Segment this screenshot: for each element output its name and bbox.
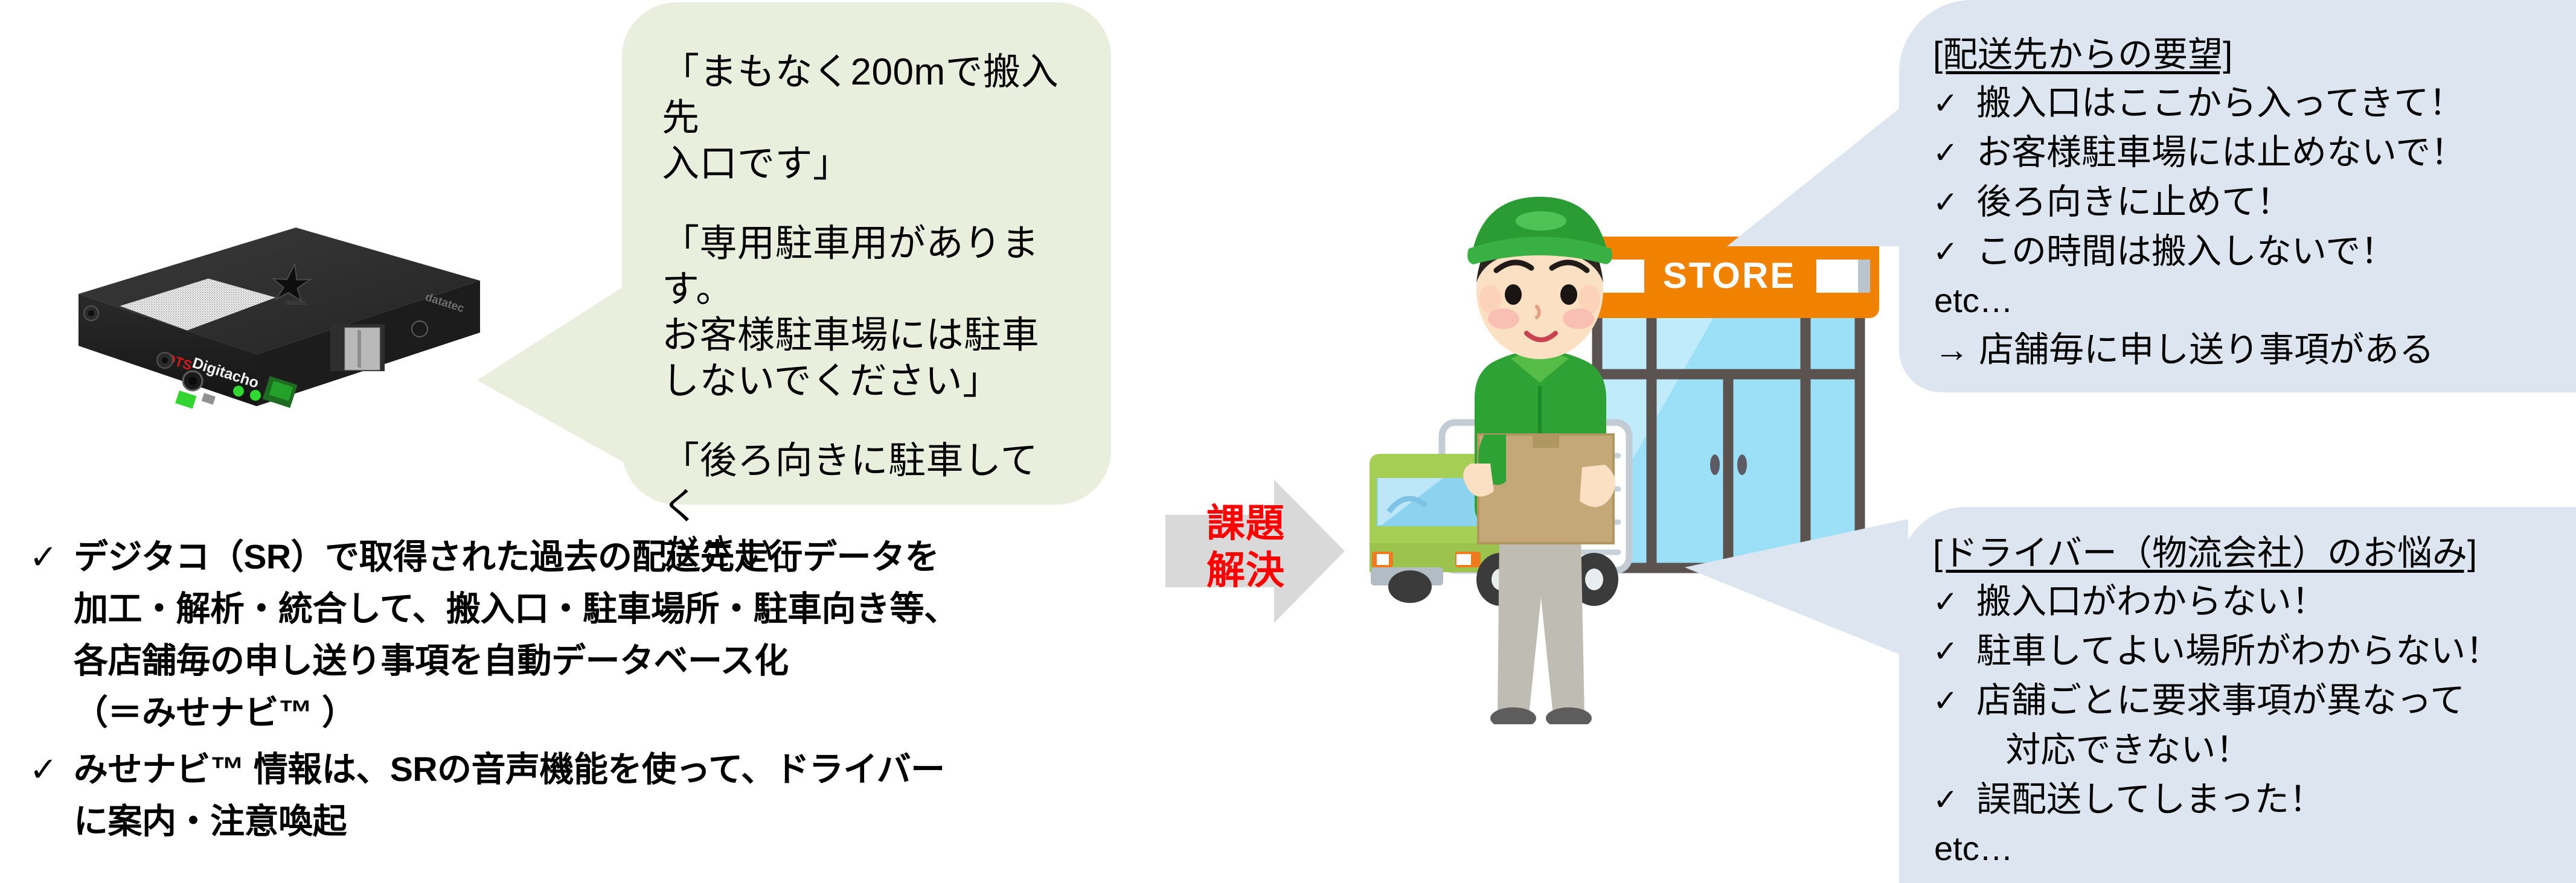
device-logo-wordmark: datatec — [286, 299, 308, 307]
voice-guidance-bubble: 「まもなく200mで搬入先 入口です」 「専用駐車用があります。 お客様駐車場に… — [622, 2, 1111, 505]
check-icon: ✓ — [1933, 128, 1976, 177]
check-icon: ✓ — [1933, 577, 1976, 626]
worries-etc: etc… — [1933, 824, 2552, 873]
driver-worries-box: [ドライバー（物流会社）のお悩み] ✓ 搬入口がわからない！ ✓ 駐車してよい場… — [1899, 507, 2576, 883]
worries-heading: [ドライバー（物流会社）のお悩み] — [1933, 530, 2552, 577]
arrow-label-line2: 解決 — [1182, 547, 1309, 594]
solution-bullet-1: デジタコ（SR）で取得された過去の配送先走行データを 加工・解析・統合して、搬入… — [74, 531, 958, 739]
list-item: ✓ デジタコ（SR）で取得された過去の配送先走行データを 加工・解析・統合して、… — [13, 531, 1161, 739]
worry-item-1: 搬入口がわからない！ — [1976, 577, 2327, 626]
check-icon: ✓ — [13, 531, 74, 583]
list-item: ✓ みせナビ™ 情報は、SRの音声機能を使って、ドライバー に案内・注意喚起 — [13, 744, 1161, 847]
list-item: ✓ 誤配送してしまった！ — [1933, 775, 2552, 824]
request-item-3: 後ろ向きに止めて！ — [1976, 177, 2292, 227]
list-item: ✓ この時間は搬入しないで！ — [1933, 227, 2552, 276]
problem-solving-label: 課題 解決 — [1182, 500, 1309, 594]
check-icon: ✓ — [1933, 775, 1976, 824]
check-icon: ✓ — [1933, 676, 1976, 725]
check-icon: ✓ — [1933, 227, 1976, 276]
voice-gap-2 — [662, 404, 1074, 438]
list-item: ✓ 店舗ごとに要求事項が異なって 対応できない！ — [1933, 676, 2552, 775]
check-icon: ✓ — [1933, 78, 1976, 128]
svg-text:STORE: STORE — [1663, 255, 1796, 296]
request-item-4: この時間は搬入しないで！ — [1976, 227, 2395, 276]
worries-bubble-tail — [1685, 507, 1908, 664]
worry-item-2: 駐車してよい場所がわからない！ — [1976, 626, 2501, 676]
list-item: ✓ お客様駐車場には止めないで！ — [1933, 128, 2552, 177]
requests-etc: etc… — [1933, 276, 2552, 325]
voice-line-2: 「専用駐車用があります。 お客様駐車場には駐車 しないでください」 — [662, 221, 1074, 404]
arrow-label-line1: 課題 — [1182, 500, 1309, 547]
list-item: ✓ 後ろ向きに止めて！ — [1933, 177, 2552, 227]
voice-bubble-tail — [477, 284, 628, 465]
solution-bullet-2: みせナビ™ 情報は、SRの音声機能を使って、ドライバー に案内・注意喚起 — [74, 744, 945, 847]
list-item: ✓ 駐車してよい場所がわからない！ — [1933, 626, 2552, 676]
delivery-person-illustration — [1463, 197, 1615, 724]
worry-item-3: 店舗ごとに要求事項が異なって 対応できない！ — [1976, 676, 2465, 775]
solution-bullet-list: ✓ デジタコ（SR）で取得された過去の配送先走行データを 加工・解析・統合して、… — [13, 531, 1161, 852]
requests-bubble-tail — [1727, 101, 1908, 246]
check-icon: ✓ — [1933, 626, 1976, 676]
request-item-1: 搬入口はここから入ってきて！ — [1976, 78, 2464, 128]
requests-from-destination-box: [配送先からの要望] ✓ 搬入口はここから入ってきて！ ✓ お客様駐車場には止め… — [1899, 0, 2576, 392]
requests-conclusion: → 店舗毎に申し送り事項がある — [1933, 325, 2552, 375]
voice-gap-1 — [662, 187, 1074, 221]
voice-line-1: 「まもなく200mで搬入先 入口です」 — [662, 49, 1074, 187]
digitacho-device-image: datatec datatec DTS Digitacho — [57, 214, 486, 413]
request-item-2: お客様駐車場には止めないで！ — [1976, 128, 2465, 177]
check-icon: ✓ — [13, 744, 74, 795]
worry-item-4: 誤配送してしまった！ — [1976, 775, 2324, 824]
requests-heading: [配送先からの要望] — [1933, 31, 2552, 78]
list-item: ✓ 搬入口はここから入ってきて！ — [1933, 78, 2552, 128]
list-item: ✓ 搬入口がわからない！ — [1933, 577, 2552, 626]
check-icon: ✓ — [1933, 177, 1976, 227]
